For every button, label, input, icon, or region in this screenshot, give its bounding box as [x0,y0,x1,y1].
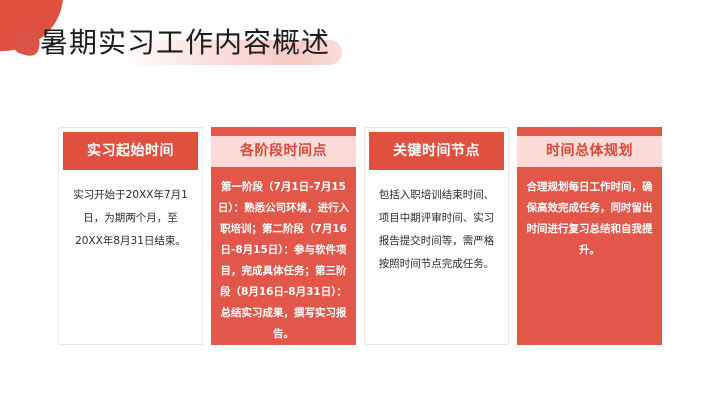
info-card-1: 实习起始时间 实习开始于20XX年7月1日，为期两个月，至20XX年8月31日结… [58,127,203,345]
info-card-4-header: 时间总体规划 [517,136,662,167]
info-card-4-top-strip [517,127,662,136]
info-card-1-header: 实习起始时间 [63,132,198,170]
info-card-2-body: 第一阶段（7月1日-7月15日）：熟悉公司环境，进行入职培训；第二阶段（7月16… [211,167,356,345]
info-card-4: 时间总体规划 合理规划每日工作时间，确保高效完成任务，同时留出时间进行复习总结和… [517,127,662,345]
page-title: 暑期实习工作内容概述 [40,24,330,62]
info-card-2-top-strip [211,127,356,136]
info-card-2-header: 各阶段时间点 [211,136,356,167]
slide-canvas: 暑期实习工作内容概述 实习起始时间 实习开始于20XX年7月1日，为期两个月，至… [0,0,720,405]
info-card-3-header: 关键时间节点 [369,132,504,170]
info-card-4-body: 合理规划每日工作时间，确保高效完成任务，同时留出时间进行复习总结和自我提升。 [517,167,662,345]
info-card-2: 各阶段时间点 第一阶段（7月1日-7月15日）：熟悉公司环境，进行入职培训；第二… [211,127,356,345]
info-card-3-body: 包括入职培训结束时间、项目中期评审时间、实习报告提交时间等，需严格按照时间节点完… [369,170,504,340]
info-card-3: 关键时间节点 包括入职培训结束时间、项目中期评审时间、实习报告提交时间等，需严格… [364,127,509,345]
info-card-1-body: 实习开始于20XX年7月1日，为期两个月，至20XX年8月31日结束。 [63,170,198,340]
cards-row: 实习起始时间 实习开始于20XX年7月1日，为期两个月，至20XX年8月31日结… [58,127,668,345]
